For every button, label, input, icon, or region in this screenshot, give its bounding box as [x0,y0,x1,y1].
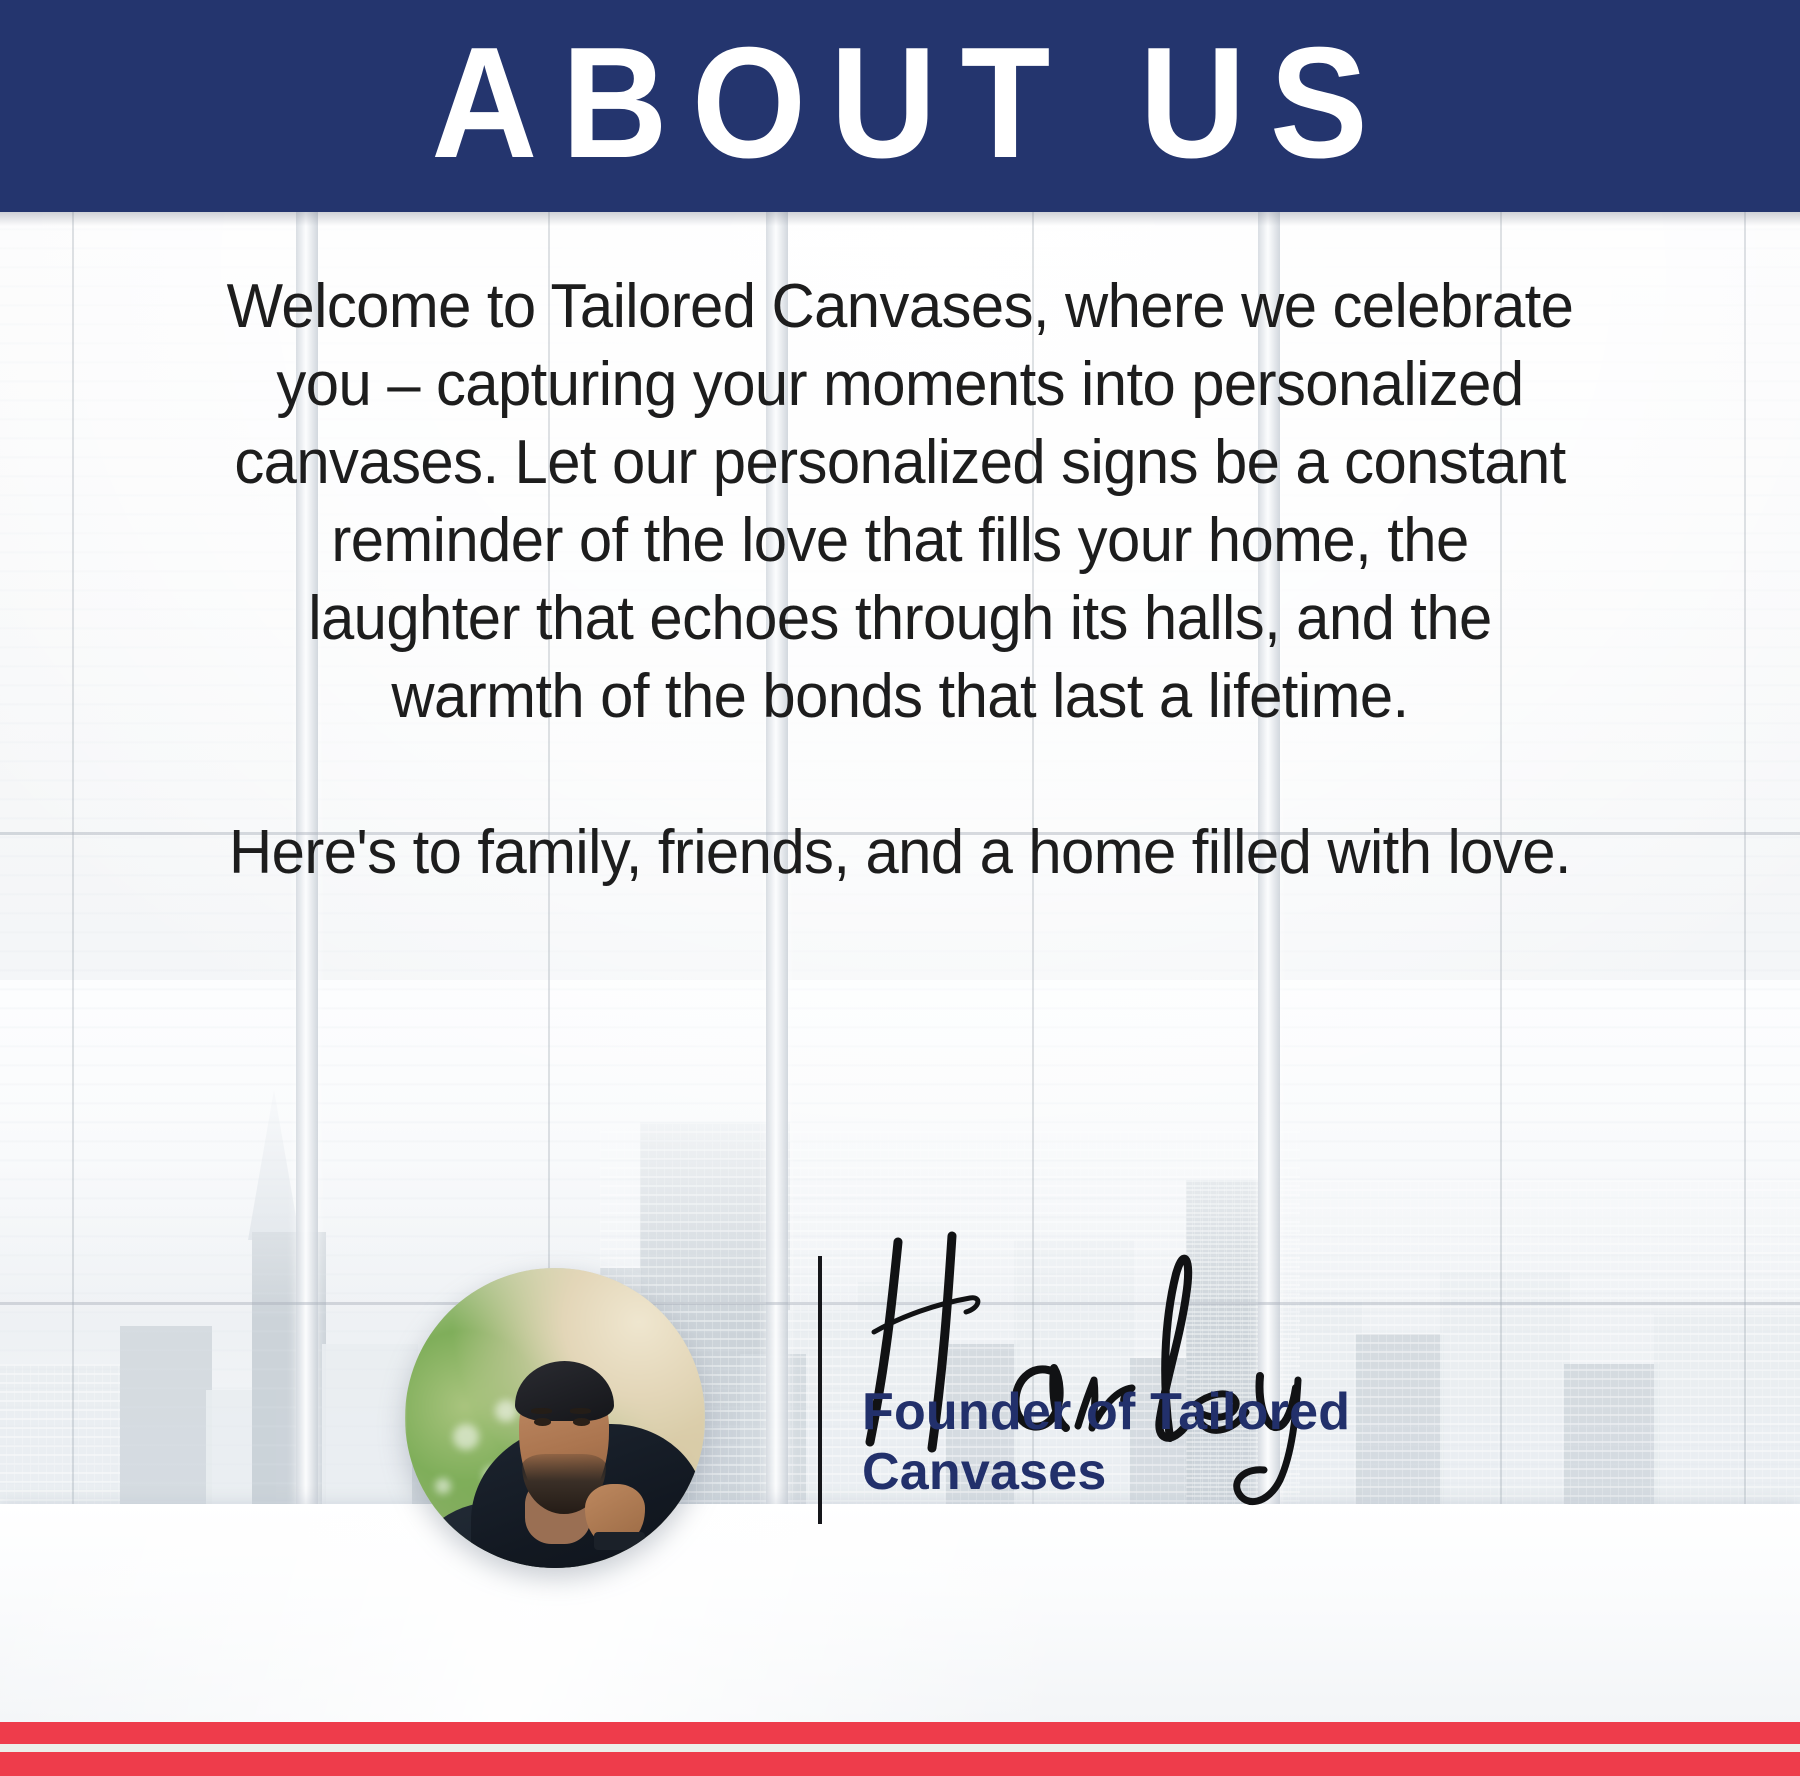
founder-title: Founder of Tailored Canvases [862,1382,1482,1502]
paragraph-spacer [200,736,1600,814]
about-copy: Welcome to Tailored Canvases, where we c… [0,268,1800,892]
header-shadow [0,212,1800,226]
founder-signature-block: Founder of Tailored Canvases [0,1180,1800,1540]
founder-title-line-2: Canvases [862,1442,1482,1502]
footer-bar-top [0,1722,1800,1744]
about-paragraph-2: Here's to family, friends, and a home fi… [225,814,1576,892]
footer-bar-gap [0,1744,1800,1752]
avatar [405,1268,705,1568]
about-us-card: Founder of Tailored Canvases ABOUT US We… [0,0,1800,1776]
signature-divider [818,1256,822,1524]
about-paragraph-1: Welcome to Tailored Canvases, where we c… [225,268,1576,736]
footer-bar-bottom [0,1752,1800,1776]
header-band: ABOUT US [0,0,1800,212]
founder-title-line-1: Founder of Tailored [862,1382,1482,1442]
page-title: ABOUT US [408,23,1393,183]
